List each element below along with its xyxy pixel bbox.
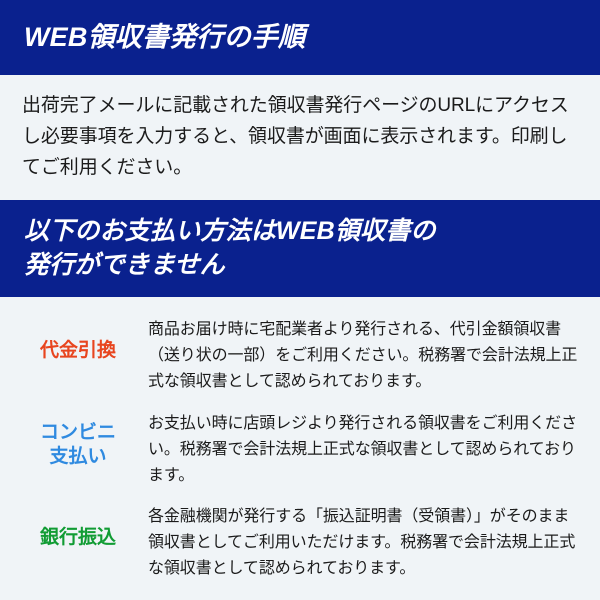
receipt-info-page: WEB領収書発行の手順 出荷完了メールに記載された領収書発行ページのURLにアク… xyxy=(0,0,600,600)
section-title-unsupported-methods: 以下のお支払い方法はWEB領収書の発行ができません xyxy=(24,215,454,283)
list-item: コンビニ 支払い お支払い時に店頭レジより発行される領収書をご利用ください。税務… xyxy=(22,411,590,489)
payment-method-description-convenience-store: お支払い時に店頭レジより発行される領収書をご利用ください。税務署で会計法規上正式… xyxy=(134,411,590,489)
secondary-banner: 以下のお支払い方法はWEB領収書の発行ができません xyxy=(0,200,600,297)
primary-banner: WEB領収書発行の手順 xyxy=(0,0,600,75)
payment-method-label-cash-on-delivery: 代金引換 xyxy=(22,317,134,364)
payment-method-description-bank-transfer: 各金融機関が発行する「振込証明書（受領書）」がそのまま領収書としてご利用いただけ… xyxy=(134,504,590,582)
list-item: 銀行振込 各金融機関が発行する「振込証明書（受領書）」がそのまま領収書としてご利… xyxy=(22,504,590,582)
page-title: WEB領収書発行の手順 xyxy=(24,20,305,55)
intro-section: 出荷完了メールに記載された領収書発行ページのURLにアクセスし必要事項を入力する… xyxy=(0,75,600,200)
payment-method-label-convenience-store: コンビニ 支払い xyxy=(22,411,134,470)
intro-paragraph: 出荷完了メールに記載された領収書発行ページのURLにアクセスし必要事項を入力する… xyxy=(22,91,578,183)
payment-methods-list: 代金引換 商品お届け時に宅配業者より発行される、代引金額領収書（送り状の一部）を… xyxy=(0,297,600,600)
payment-method-label-bank-transfer: 銀行振込 xyxy=(22,504,134,551)
payment-method-description-cash-on-delivery: 商品お届け時に宅配業者より発行される、代引金額領収書（送り状の一部）をご利用くだ… xyxy=(134,317,590,395)
list-item: 代金引換 商品お届け時に宅配業者より発行される、代引金額領収書（送り状の一部）を… xyxy=(22,317,590,395)
